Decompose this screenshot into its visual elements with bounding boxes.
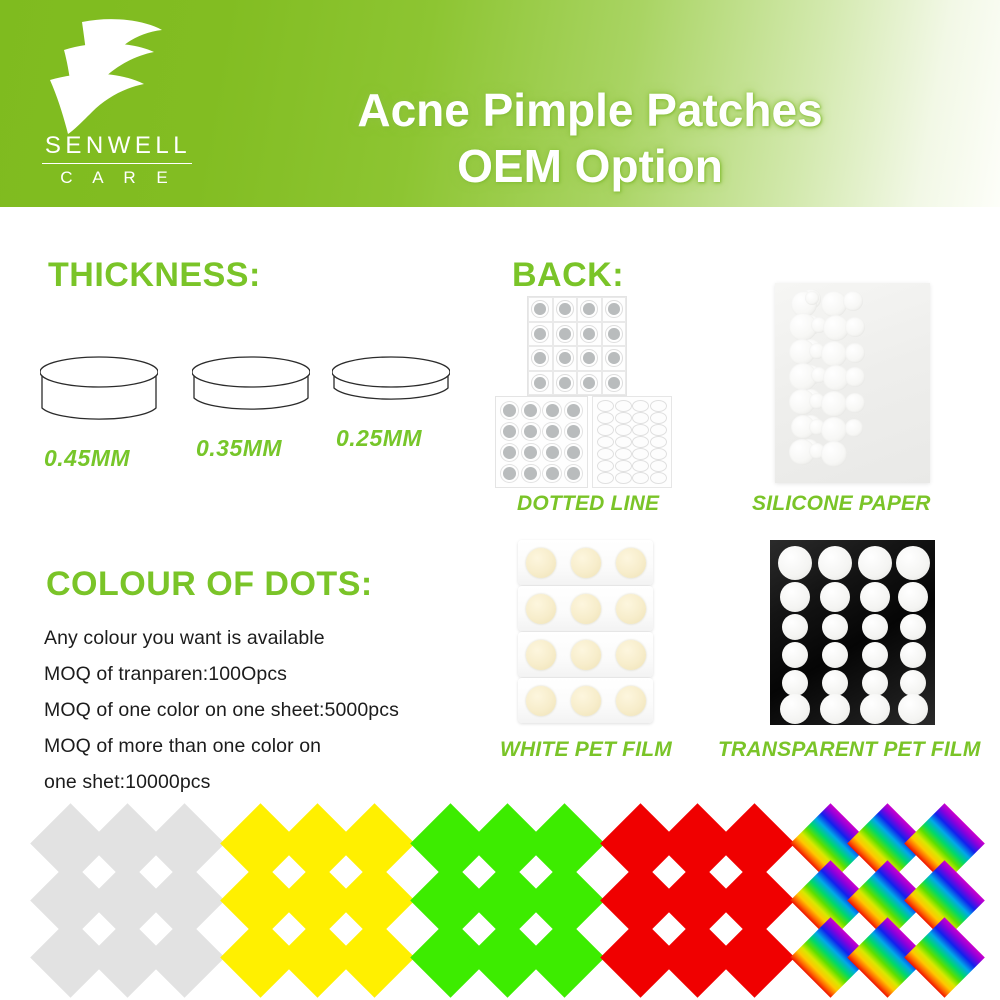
white-pet-strip xyxy=(518,586,653,631)
transparent-patch-dot xyxy=(780,582,810,612)
transparent-patch-dot xyxy=(822,614,848,640)
brand-tagline: C A R E xyxy=(38,168,198,188)
patch-dot-cell xyxy=(615,412,633,424)
patch-dot-cell xyxy=(597,448,615,460)
patch-dot-cell xyxy=(553,297,578,322)
transparent-patch-dot xyxy=(860,582,890,612)
patch-dot-cell xyxy=(542,400,563,421)
patch-dot-cell xyxy=(597,436,615,448)
heading-back: BACK: xyxy=(512,256,624,295)
transparent-patch-dot xyxy=(898,582,928,612)
patch-dot-cell xyxy=(615,424,633,436)
silicone-patch-dot xyxy=(843,291,863,311)
patch-dot-cell xyxy=(499,400,520,421)
patch-dot-cell xyxy=(602,371,627,396)
swatch-diamond xyxy=(714,917,795,998)
patch-dot-cell xyxy=(650,412,668,424)
silicone-patch-dot xyxy=(805,291,819,305)
transparent-patch-dot xyxy=(818,546,852,580)
label-dotted-line: DOTTED LINE xyxy=(517,492,659,516)
heading-colour-of-dots: COLOUR OF DOTS: xyxy=(46,565,373,604)
dotted-sheet-top xyxy=(527,296,627,396)
silicone-patch-dot xyxy=(845,367,865,387)
hydrocolloid-patch-dot xyxy=(526,640,556,670)
patch-dot-cell xyxy=(650,436,668,448)
patch-dot-cell xyxy=(615,436,633,448)
patch-dot-cell xyxy=(553,371,578,396)
patch-dot-cell xyxy=(597,424,615,436)
swatch-diamond xyxy=(524,917,605,998)
transparent-patch-dot xyxy=(782,614,808,640)
thickness-label: 0.45MM xyxy=(44,445,130,472)
transparent-patch-dot xyxy=(822,670,848,696)
patch-dot-cell xyxy=(615,400,633,412)
colour-swatch-yellow xyxy=(232,815,402,985)
swatch-diamond xyxy=(334,917,415,998)
patch-dot-cell xyxy=(577,322,602,347)
hydrocolloid-patch-dot xyxy=(616,548,646,578)
transparent-patch-dot xyxy=(862,642,888,668)
thickness-disc: 0.35MM xyxy=(192,355,310,422)
colour-info-line: MOQ of more than one color on xyxy=(44,728,484,764)
patch-dot-cell xyxy=(602,346,627,371)
patch-dot-cell xyxy=(528,322,553,347)
brand-name: SENWELL xyxy=(38,132,198,160)
transparent-patch-dot xyxy=(862,670,888,696)
colour-swatch-red xyxy=(612,815,782,985)
brand-logo: SENWELL C A R E xyxy=(32,14,200,192)
transparent-patch-dot xyxy=(858,546,892,580)
page-header: SENWELL C A R E Acne Pimple Patches OEM … xyxy=(0,0,1000,207)
patch-dot-cell xyxy=(577,346,602,371)
dotted-line-image xyxy=(495,296,675,488)
patch-dot-cell xyxy=(563,463,584,484)
patch-dot-cell xyxy=(553,322,578,347)
silicone-patch-dot xyxy=(821,417,847,443)
colour-of-dots-text: Any colour you want is availableMOQ of t… xyxy=(44,620,484,800)
hydrocolloid-patch-dot xyxy=(526,594,556,624)
label-silicone-paper: SILICONE PAPER xyxy=(752,492,931,516)
silicone-patch-dot xyxy=(821,441,847,467)
hydrocolloid-patch-dot xyxy=(571,594,601,624)
silicone-patch-dot xyxy=(845,419,863,437)
patch-dot-cell xyxy=(615,472,633,484)
white-pet-strip xyxy=(518,540,653,585)
thickness-disc: 0.25MM xyxy=(332,355,450,412)
senwell-leaf-logo-icon xyxy=(40,14,190,134)
hydrocolloid-patch-dot xyxy=(526,686,556,716)
colour-info-line: one shet:10000pcs xyxy=(44,764,484,800)
transparent-patch-dot xyxy=(900,614,926,640)
thickness-disc: 0.45MM xyxy=(40,355,158,432)
page-title: Acne Pimple Patches OEM Option xyxy=(200,82,980,194)
patch-dot-cell xyxy=(520,442,541,463)
patch-dot-cell xyxy=(602,322,627,347)
silicone-patch-dot xyxy=(821,341,847,367)
patch-dot-cell xyxy=(632,472,650,484)
colour-info-line: MOQ of tranparen:100Opcs xyxy=(44,656,484,692)
white-pet-strip xyxy=(518,678,653,723)
transparent-patch-dot xyxy=(822,642,848,668)
colour-swatch-transparent-grey xyxy=(42,815,212,985)
patch-dot-cell xyxy=(597,472,615,484)
patch-dot-cell xyxy=(520,421,541,442)
patch-dot-cell xyxy=(499,442,520,463)
patch-dot-cell xyxy=(528,371,553,396)
patch-dot-cell xyxy=(632,424,650,436)
transparent-patch-dot xyxy=(820,582,850,612)
hydrocolloid-patch-dot xyxy=(616,686,646,716)
patch-dot-cell xyxy=(542,421,563,442)
silicone-paper-image xyxy=(775,283,930,483)
white-pet-film-image xyxy=(518,540,653,725)
colour-info-line: MOQ of one color on one sheet:5000pcs xyxy=(44,692,484,728)
patch-dot-cell xyxy=(632,412,650,424)
title-line-1: Acne Pimple Patches xyxy=(357,84,822,136)
title-line-2: OEM Option xyxy=(200,138,980,194)
logo-divider xyxy=(42,163,192,164)
patch-dot-cell xyxy=(650,424,668,436)
patch-dot-cell xyxy=(499,421,520,442)
transparent-patch-dot xyxy=(780,694,810,724)
white-pet-strip xyxy=(518,632,653,677)
patch-dot-cell xyxy=(632,460,650,472)
patch-dot-cell xyxy=(597,412,615,424)
patch-dot-cell xyxy=(520,463,541,484)
silicone-patch-dot xyxy=(845,393,865,413)
silicone-patch-dot xyxy=(845,343,865,363)
patch-dot-cell xyxy=(632,400,650,412)
patch-dot-cell xyxy=(542,463,563,484)
patch-dot-cell xyxy=(650,472,668,484)
transparent-patch-dot xyxy=(900,642,926,668)
label-white-pet-film: WHITE PET FILM xyxy=(500,738,672,762)
patch-dot-cell xyxy=(520,400,541,421)
patch-dot-cell xyxy=(563,442,584,463)
hydrocolloid-patch-dot xyxy=(616,594,646,624)
patch-dot-cell xyxy=(563,421,584,442)
silicone-patch-dot xyxy=(821,391,847,417)
patch-dot-cell xyxy=(553,346,578,371)
patch-dot-cell xyxy=(577,371,602,396)
thickness-label: 0.35MM xyxy=(196,435,282,462)
transparent-patch-dot xyxy=(898,694,928,724)
patch-dot-cell xyxy=(602,297,627,322)
patch-dot-cell xyxy=(563,400,584,421)
patch-dot-cell xyxy=(528,297,553,322)
transparent-patch-dot xyxy=(782,642,808,668)
patch-dot-cell xyxy=(650,460,668,472)
silicone-patch-dot xyxy=(845,317,865,337)
hydrocolloid-patch-dot xyxy=(616,640,646,670)
transparent-patch-dot xyxy=(778,546,812,580)
hydrocolloid-patch-dot xyxy=(571,686,601,716)
thickness-disc-row: 0.45MM0.35MM0.25MM xyxy=(40,355,490,475)
patch-dot-cell xyxy=(650,448,668,460)
colour-info-line: Any colour you want is available xyxy=(44,620,484,656)
transparent-patch-dot xyxy=(900,670,926,696)
patch-dot-cell xyxy=(632,436,650,448)
dotted-sheet-left xyxy=(495,396,588,488)
transparent-patch-dot xyxy=(860,694,890,724)
patch-dot-cell xyxy=(650,400,668,412)
dotted-sheet-right xyxy=(592,396,672,488)
patch-dot-cell xyxy=(577,297,602,322)
transparent-patch-dot xyxy=(896,546,930,580)
hydrocolloid-patch-dot xyxy=(571,548,601,578)
patch-dot-cell xyxy=(542,442,563,463)
patch-dot-cell xyxy=(632,448,650,460)
colour-swatch-row xyxy=(0,815,1000,995)
patch-dot-cell xyxy=(597,460,615,472)
hydrocolloid-patch-dot xyxy=(571,640,601,670)
colour-swatch-rainbow xyxy=(802,815,972,985)
patch-dot-cell xyxy=(597,400,615,412)
hydrocolloid-patch-dot xyxy=(526,548,556,578)
patch-dot-cell xyxy=(499,463,520,484)
transparent-patch-dot xyxy=(820,694,850,724)
transparent-patch-dot xyxy=(782,670,808,696)
transparent-patch-dot xyxy=(862,614,888,640)
swatch-diamond xyxy=(904,917,985,998)
patch-dot-cell xyxy=(615,448,633,460)
heading-thickness: THICKNESS: xyxy=(48,256,261,295)
patch-dot-cell xyxy=(528,346,553,371)
swatch-diamond xyxy=(144,917,225,998)
infographic-page: SENWELL C A R E Acne Pimple Patches OEM … xyxy=(0,0,1000,1000)
thickness-label: 0.25MM xyxy=(336,425,422,452)
patch-dot-cell xyxy=(615,460,633,472)
transparent-pet-film-image xyxy=(770,540,935,725)
label-transparent-pet-film: TRANSPARENT PET FILM xyxy=(718,738,981,762)
colour-swatch-green xyxy=(422,815,592,985)
